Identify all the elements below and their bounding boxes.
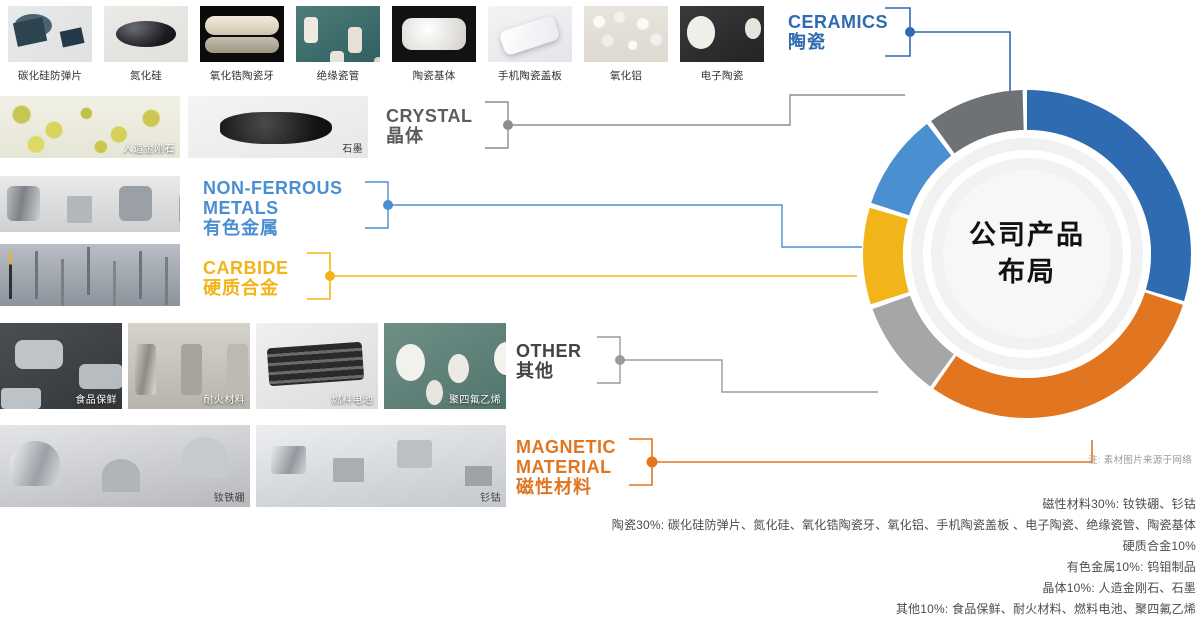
photo-ceramic-substrate xyxy=(392,6,476,62)
label-magnetic-en-line2: MATERIAL xyxy=(516,457,616,477)
photo-tungsten-molybdenum-parts xyxy=(0,176,180,232)
photo-caption: 石墨 xyxy=(342,140,363,155)
photo-tile-ceramics-4 xyxy=(392,6,476,62)
photo-tile-nonferrous-0 xyxy=(0,176,180,232)
photo-tile-ceramics-3 xyxy=(296,6,380,62)
photo-caption: 氧化铝 xyxy=(584,68,668,83)
legend-list: 磁性材料30%: 钕铁硼、钐钴 陶瓷30%: 碳化硅防弹片、氮化硅、氧化锆陶瓷牙… xyxy=(612,494,1196,620)
photo-caption: 耐火材料 xyxy=(203,391,245,406)
photo-smco-magnet xyxy=(256,425,506,507)
photo-tile-crystal-1: 石墨 xyxy=(188,96,368,158)
photo-caption: 电子陶瓷 xyxy=(680,68,764,83)
connector-ceramics xyxy=(885,8,1010,92)
photo-caption: 钐钴 xyxy=(480,489,501,504)
connector-dot-magnetic xyxy=(647,457,658,468)
connector-other xyxy=(597,337,878,392)
source-note: 注: 素材图片来源于网络 xyxy=(1088,452,1192,466)
connector-dot-nonferrous xyxy=(383,200,393,210)
label-magnetic-en-line1: MAGNETIC xyxy=(516,437,616,457)
photo-caption: 氮化硅 xyxy=(104,68,188,83)
donut-chart: 公司产品 布局 xyxy=(855,82,1199,426)
photo-tile-carbide-0 xyxy=(0,244,180,306)
photo-caption: 手机陶瓷盖板 xyxy=(484,68,576,83)
label-magnetic-cn: 磁性材料 xyxy=(516,477,616,497)
photo-tile-crystal-0: 人造金刚石 xyxy=(0,96,180,158)
photo-caption: 燃料电池 xyxy=(331,391,373,406)
photo-caption: 绝缘瓷管 xyxy=(296,68,380,83)
photo-carbide-silicon-plate xyxy=(8,6,92,62)
connector-nonferrous xyxy=(365,182,862,247)
label-carbide-cn: 硬质合金 xyxy=(203,278,289,298)
donut-center-label: 公司产品 布局 xyxy=(855,82,1199,426)
photo-tile-ceramics-6 xyxy=(584,6,668,62)
photo-graphite xyxy=(188,96,368,158)
donut-center-line1: 公司产品 xyxy=(969,217,1085,254)
photo-caption: 碳化硅防弹片 xyxy=(8,68,92,83)
connector-crystal xyxy=(485,95,905,148)
photo-tile-ceramics-5 xyxy=(488,6,572,62)
photo-tile-other-2: 燃料电池 xyxy=(256,323,378,409)
label-nonferrous[interactable]: NON-FERROUS METALS 有色金属 xyxy=(203,178,343,238)
photo-electronic-ceramics xyxy=(680,6,764,62)
label-nonferrous-cn: 有色金属 xyxy=(203,218,343,238)
photo-caption: 人造金刚石 xyxy=(123,140,175,155)
label-carbide-en: CARBIDE xyxy=(203,258,289,278)
label-ceramics[interactable]: CERAMICS 陶瓷 xyxy=(788,12,888,52)
label-magnetic[interactable]: MAGNETIC MATERIAL 磁性材料 xyxy=(516,437,616,497)
legend-item-carbide: 硬质合金10% xyxy=(612,536,1196,557)
photo-caption: 聚四氟乙烯 xyxy=(449,391,501,406)
photo-caption: 陶瓷基体 xyxy=(392,68,476,83)
connector-dot-ceramics xyxy=(905,27,915,37)
connector-dot-carbide xyxy=(325,271,335,281)
legend-item-magnetic: 磁性材料30%: 钕铁硼、钐钴 xyxy=(612,494,1196,515)
label-carbide[interactable]: CARBIDE 硬质合金 xyxy=(203,258,289,298)
label-crystal-en: CRYSTAL xyxy=(386,106,473,126)
label-nonferrous-en-line1: NON-FERROUS xyxy=(203,178,343,198)
donut-center-line2: 布局 xyxy=(998,254,1056,291)
photo-alumina xyxy=(584,6,668,62)
legend-item-nonferrous: 有色金属10%: 钨钼制品 xyxy=(612,557,1196,578)
photo-tile-magnetic-0: 钕铁硼 xyxy=(0,425,250,507)
label-other-en: OTHER xyxy=(516,341,582,361)
photo-insulating-tube xyxy=(296,6,380,62)
photo-carbide-drills xyxy=(0,244,180,306)
label-other-cn: 其他 xyxy=(516,361,582,381)
connector-dot-crystal xyxy=(503,120,513,130)
photo-tile-ceramics-7 xyxy=(680,6,764,62)
infographic-canvas: 碳化硅防弹片 氮化硅 氧化锆陶瓷牙 绝缘瓷管 陶瓷基体 手机陶瓷盖板 氧化铝 电… xyxy=(0,0,1204,632)
legend-item-crystal: 晶体10%: 人造金刚石、石墨 xyxy=(612,578,1196,599)
label-ceramics-en: CERAMICS xyxy=(788,12,888,32)
photo-ndfeb-magnet xyxy=(0,425,250,507)
label-other[interactable]: OTHER 其他 xyxy=(516,341,582,381)
photo-tile-other-3: 聚四氟乙烯 xyxy=(384,323,506,409)
photo-tile-ceramics-1 xyxy=(104,6,188,62)
photo-tile-ceramics-0 xyxy=(8,6,92,62)
label-nonferrous-en-line2: METALS xyxy=(203,198,343,218)
photo-silicon-nitride xyxy=(104,6,188,62)
photo-tile-magnetic-1: 钐钴 xyxy=(256,425,506,507)
photo-tile-ceramics-2 xyxy=(200,6,284,62)
photo-caption: 食品保鲜 xyxy=(75,391,117,406)
photo-zirconia-teeth xyxy=(200,6,284,62)
photo-tile-other-0: 食品保鲜 xyxy=(0,323,122,409)
legend-item-other: 其他10%: 食品保鲜、耐火材料、燃料电池、聚四氟乙烯 xyxy=(612,599,1196,620)
connector-dot-other xyxy=(615,355,625,365)
label-crystal[interactable]: CRYSTAL 晶体 xyxy=(386,106,473,146)
connector-magnetic xyxy=(629,439,1092,485)
photo-caption: 氧化锆陶瓷牙 xyxy=(196,68,288,83)
photo-tile-other-1: 耐火材料 xyxy=(128,323,250,409)
label-crystal-cn: 晶体 xyxy=(386,126,473,146)
label-ceramics-cn: 陶瓷 xyxy=(788,32,888,52)
legend-item-ceramics: 陶瓷30%: 碳化硅防弹片、氮化硅、氧化锆陶瓷牙、氧化铝、手机陶瓷盖板 、电子陶… xyxy=(612,515,1196,536)
photo-caption: 钕铁硼 xyxy=(214,489,245,504)
connector-carbide xyxy=(307,253,857,299)
photo-phone-ceramic-cover xyxy=(488,6,572,62)
